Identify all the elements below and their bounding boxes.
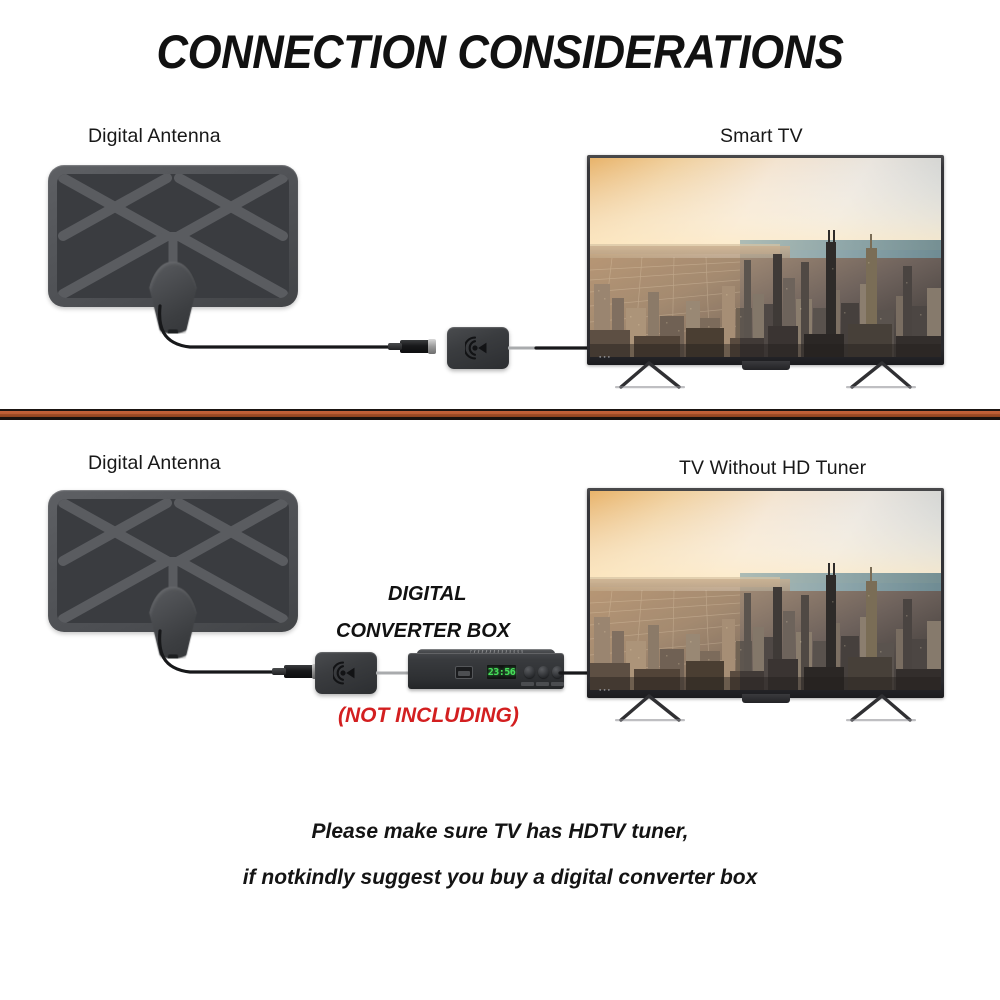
tv-label-top: Smart TV <box>720 125 803 148</box>
page-title: CONNECTION CONSIDERATIONS <box>35 24 965 79</box>
smart-tv: ● ● ● <box>587 155 944 391</box>
coax-connector-bottom <box>284 665 314 678</box>
tv-stand-legs <box>587 692 944 726</box>
footer-line-2: if notkindly suggest you buy a digital c… <box>0 866 1000 890</box>
converter-box-disclaimer: (NOT INCLUDING) <box>338 704 519 728</box>
antenna-label-bottom: Digital Antenna <box>88 452 221 475</box>
poster-canvas: CONNECTION CONSIDERATIONS Digital Antenn… <box>0 0 1000 1000</box>
converter-box-display: 23:56 <box>487 665 516 679</box>
tv-bezel <box>587 155 944 365</box>
tv-stand-legs <box>587 359 944 393</box>
antenna-amplifier-top <box>447 327 509 369</box>
converter-box-button-1[interactable] <box>524 666 535 678</box>
digital-antenna-top <box>48 165 298 307</box>
tv-without-hd-tuner: ● ● ● <box>587 488 944 724</box>
tv-screen-bottom <box>590 491 941 690</box>
antenna-amplifier-bottom <box>315 652 377 694</box>
antenna-label-top: Digital Antenna <box>88 125 221 148</box>
converter-box-footpad-2 <box>536 682 549 686</box>
digital-converter-box: 23:56 <box>408 648 564 690</box>
coax-connector-top <box>400 340 430 353</box>
converter-box-label-line1: DIGITAL <box>388 583 467 606</box>
converter-box-label-line2: CONVERTER BOX <box>336 620 510 643</box>
antenna-cable-top <box>150 300 410 360</box>
cityscape-image <box>590 158 941 357</box>
digital-antenna-bottom <box>48 490 298 632</box>
usb-port-icon <box>455 666 473 679</box>
amp-to-converter-cable <box>376 665 412 685</box>
signal-icon <box>465 336 491 360</box>
converter-box-footpad-1 <box>521 682 534 686</box>
converter-box-front-panel: 23:56 <box>408 653 564 689</box>
tv-screen-top <box>590 158 941 357</box>
cityscape-image <box>590 491 941 690</box>
tv-bezel <box>587 488 944 698</box>
section-divider <box>0 409 1000 420</box>
tv-label-bottom: TV Without HD Tuner <box>679 457 866 480</box>
signal-icon <box>333 661 359 685</box>
antenna-cable-bottom <box>150 625 300 685</box>
converter-box-button-2[interactable] <box>538 666 549 678</box>
footer-line-1: Please make sure TV has HDTV tuner, <box>0 820 1000 844</box>
